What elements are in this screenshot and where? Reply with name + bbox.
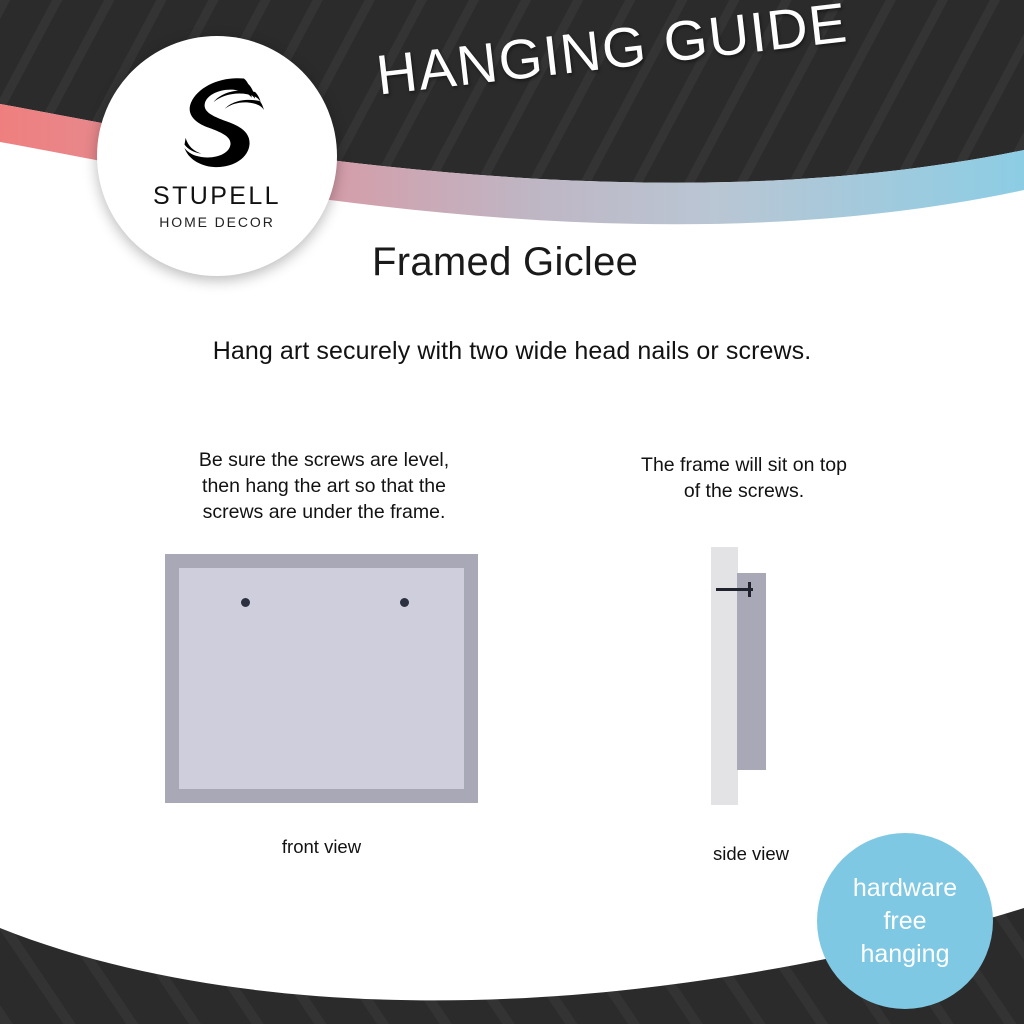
side-view-caption-line-2: of the screws. [588,478,900,504]
side-view-frame [737,573,766,770]
screw-dot-left-icon [241,598,250,607]
front-view-diagram [165,554,478,803]
brand-logo-badge: STUPELL HOME DECOR [97,36,337,276]
nail-head-icon [748,582,751,597]
side-view-label: side view [660,843,842,865]
hardware-free-badge: hardware free hanging [817,833,993,1009]
hardware-free-badge-line-1: hardware [853,872,957,905]
logo-brand-subtitle: HOME DECOR [159,214,274,230]
front-view-caption-line-1: Be sure the screws are level, [156,447,492,473]
hardware-free-badge-line-3: hanging [861,938,950,971]
front-view-caption-line-2: then hang the art so that the [156,473,492,499]
side-view-caption-line-1: The frame will sit on top [588,452,900,478]
logo-brand-name: STUPELL [153,182,281,211]
front-view-caption: Be sure the screws are level, then hang … [156,447,492,525]
lead-instruction: Hang art securely with two wide head nai… [0,337,1024,366]
page-title: HANGING GUIDE [373,0,897,108]
side-view-wall [711,547,738,805]
hanging-guide-page: STUPELL HOME DECOR HANGING GUIDE Framed … [0,0,1024,1024]
hardware-free-badge-line-2: free [883,905,926,938]
front-view-caption-line-3: screws are under the frame. [156,499,492,525]
side-view-caption: The frame will sit on top of the screws. [588,452,900,504]
screw-dot-right-icon [400,598,409,607]
front-view-mat [179,568,464,789]
front-view-label: front view [165,836,478,858]
product-title: Framed Giclee [372,240,638,285]
stupell-swoosh-icon [161,64,273,176]
